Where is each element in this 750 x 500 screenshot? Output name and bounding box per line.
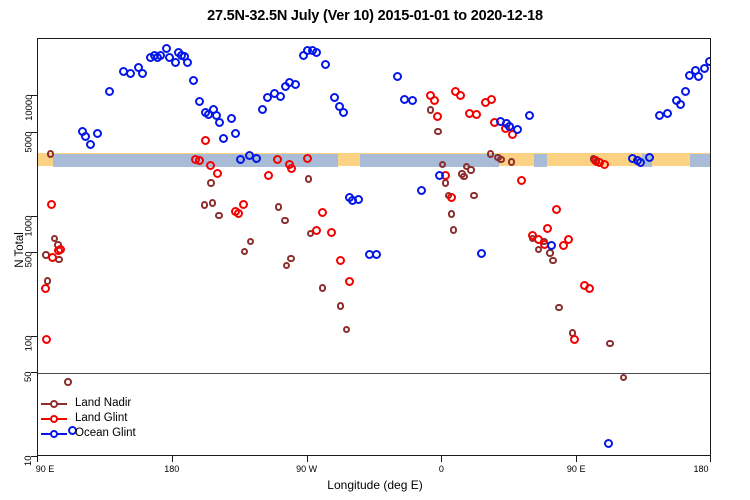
data-point [318, 208, 327, 217]
data-point [283, 262, 291, 270]
y-tick-label: 50 [24, 371, 35, 382]
data-point [264, 171, 273, 180]
data-point [207, 179, 215, 187]
data-point [201, 136, 210, 145]
data-point [305, 175, 313, 183]
data-point [372, 250, 381, 259]
data-point [183, 58, 192, 67]
data-point [339, 108, 348, 117]
data-point [447, 193, 456, 202]
y-tick-label: 1000 [24, 215, 35, 236]
data-point [171, 58, 180, 67]
data-point [219, 134, 228, 143]
x-tick [441, 456, 442, 462]
data-point [275, 203, 283, 211]
data-point [636, 158, 645, 167]
data-point [448, 210, 456, 218]
data-point [215, 118, 224, 127]
data-point [470, 192, 478, 200]
data-point [606, 340, 614, 348]
ocean-band [534, 154, 547, 167]
data-point [105, 87, 114, 96]
reference-line [38, 373, 710, 374]
data-point [336, 256, 345, 265]
data-point [273, 155, 282, 164]
data-point [234, 209, 243, 218]
data-point [487, 150, 495, 158]
data-point [543, 224, 552, 233]
data-point [138, 69, 147, 78]
data-point [41, 284, 50, 293]
data-point [430, 96, 439, 105]
legend-label: Ocean Glint [75, 426, 136, 441]
y-tick-label: 5000 [24, 131, 35, 152]
legend-marker-icon [41, 400, 67, 407]
chart-title: 27.5N-32.5N July (Ver 10) 2015-01-01 to … [0, 8, 750, 24]
x-tick-label: 90 E [36, 464, 55, 474]
data-point [42, 335, 51, 344]
data-point [303, 154, 312, 163]
chart-container: 27.5N-32.5N July (Ver 10) 2015-01-01 to … [0, 0, 750, 500]
data-point [525, 111, 534, 120]
data-point [456, 91, 465, 100]
data-point [195, 156, 204, 165]
legend-marker-icon [41, 430, 67, 437]
x-tick [37, 456, 38, 462]
plot-frame [37, 38, 711, 456]
data-point [546, 249, 554, 257]
data-point [247, 238, 255, 246]
data-point [327, 228, 336, 237]
data-point [236, 155, 245, 164]
data-point [312, 48, 321, 57]
data-point [552, 205, 561, 214]
data-point [467, 166, 475, 174]
data-point [195, 97, 204, 106]
x-tick [307, 456, 308, 462]
data-point [555, 304, 563, 312]
data-point [427, 106, 435, 114]
legend-label: Land Nadir [75, 396, 131, 411]
data-point [705, 57, 711, 66]
data-point [93, 129, 102, 138]
legend-marker-icon [41, 415, 67, 422]
data-point [343, 326, 351, 334]
x-tick-label: 90 W [296, 464, 317, 474]
data-point [281, 217, 289, 225]
ocean-band [360, 154, 499, 167]
data-point [620, 374, 628, 382]
plot-canvas [38, 39, 710, 455]
data-point [227, 114, 236, 123]
data-point [276, 92, 285, 101]
data-point [287, 164, 296, 173]
x-tick [172, 456, 173, 462]
data-point [564, 235, 573, 244]
data-point [676, 100, 685, 109]
data-point [241, 248, 249, 256]
data-point [645, 153, 654, 162]
data-point [694, 72, 703, 81]
data-point [472, 110, 481, 119]
data-point [291, 80, 300, 89]
data-point [345, 277, 354, 286]
data-point [600, 160, 609, 169]
data-point [56, 245, 65, 254]
data-point [497, 156, 505, 164]
x-tick-label: 90 E [567, 464, 586, 474]
data-point [287, 255, 295, 263]
data-point [209, 199, 217, 207]
x-tick [710, 456, 711, 462]
data-point [487, 95, 496, 104]
data-point [663, 109, 672, 118]
data-point [417, 186, 426, 195]
data-point [547, 241, 556, 250]
data-point [585, 284, 594, 293]
y-tick-label: 10 [24, 456, 35, 467]
data-point [64, 378, 72, 386]
data-point [442, 179, 450, 187]
data-point [604, 439, 613, 448]
x-tick-label: 180 [693, 464, 708, 474]
data-point [450, 226, 458, 234]
data-point [330, 93, 339, 102]
ocean-band [690, 154, 710, 167]
data-point [549, 257, 557, 265]
data-point [319, 284, 327, 292]
x-axis-title: Longitude (deg E) [0, 478, 750, 492]
data-point [231, 129, 240, 138]
data-point [239, 200, 248, 209]
data-point [408, 96, 417, 105]
data-point [206, 161, 215, 170]
data-point [513, 125, 522, 134]
data-point [201, 201, 209, 209]
data-point [433, 112, 442, 121]
data-point [337, 302, 345, 310]
data-point [258, 105, 267, 114]
data-point [47, 200, 56, 209]
data-point [460, 173, 468, 181]
data-point [508, 158, 516, 166]
data-point [517, 176, 526, 185]
x-tick-label: 0 [439, 464, 444, 474]
data-point [477, 249, 486, 258]
data-point [354, 195, 363, 204]
data-point [434, 128, 442, 136]
data-point [215, 212, 223, 220]
y-tick-label: 10000 [24, 95, 35, 121]
data-point [393, 72, 402, 81]
data-point [312, 226, 321, 235]
data-point [252, 154, 261, 163]
legend-label: Land Glint [75, 411, 127, 426]
y-tick-label: 100 [24, 335, 35, 351]
data-point [213, 169, 222, 178]
data-point [162, 44, 171, 53]
data-point [321, 60, 330, 69]
data-point [681, 87, 690, 96]
y-tick-label: 500 [24, 251, 35, 267]
data-point [570, 335, 579, 344]
x-tick-label: 180 [164, 464, 179, 474]
data-point [435, 171, 444, 180]
x-tick [576, 456, 577, 462]
data-point [189, 76, 198, 85]
data-point [86, 140, 95, 149]
